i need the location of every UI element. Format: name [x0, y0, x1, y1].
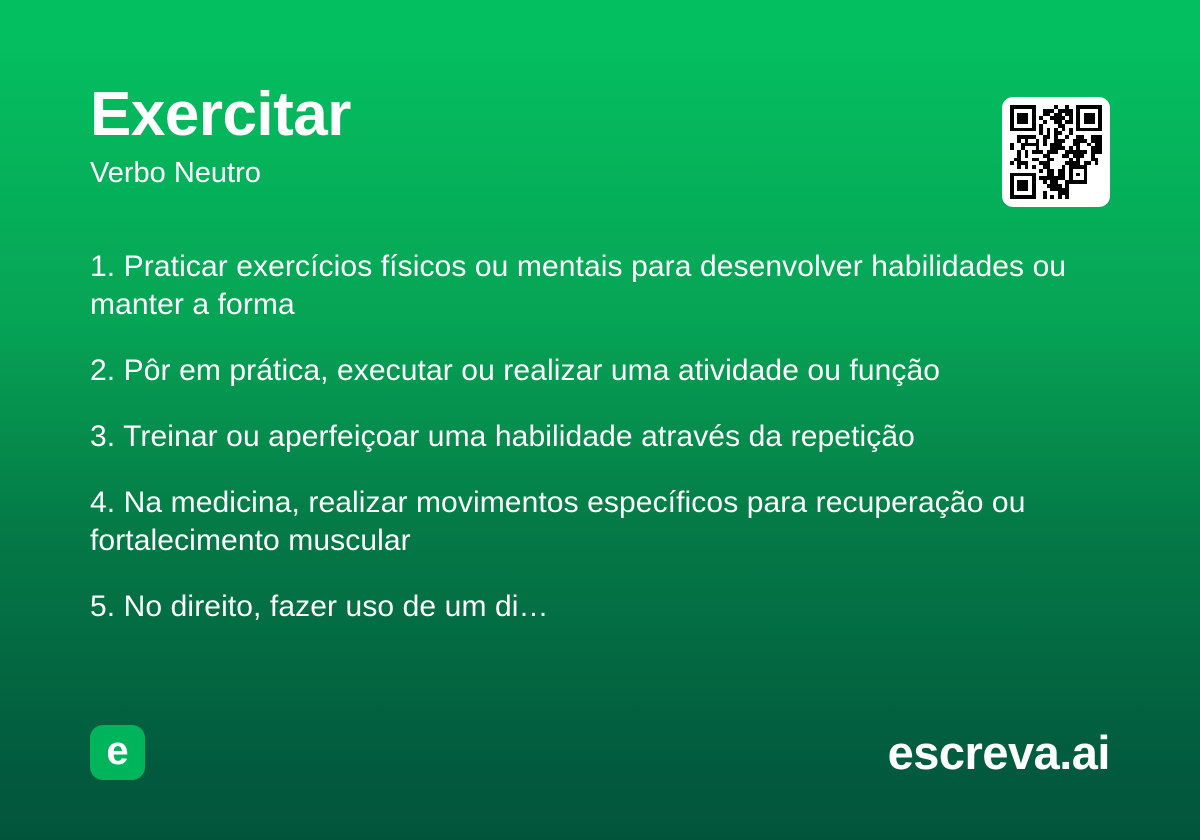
escreva-logo-mark[interactable]: e [90, 725, 145, 780]
definition-item: 1. Praticar exercícios físicos ou mentai… [90, 248, 1100, 324]
definition-item: 3. Treinar ou aperfeiçoar uma habilidade… [90, 418, 1100, 456]
qr-code-panel[interactable] [1002, 97, 1110, 207]
qr-code-icon [1010, 105, 1102, 199]
definition-item: 5. No direito, fazer uso de um di… [90, 588, 1100, 626]
card-header: Exercitar Verbo Neutro [90, 82, 1110, 191]
definition-item: 4. Na medicina, realizar movimentos espe… [90, 484, 1100, 560]
logo-letter: e [106, 731, 128, 771]
definition-list: 1. Praticar exercícios físicos ou mentai… [90, 248, 1100, 626]
dictionary-card: Exercitar Verbo Neutro 1. Praticar exerc… [0, 0, 1200, 840]
page-title: Exercitar [90, 82, 1110, 148]
card-footer: e escreva.ai [90, 724, 1110, 780]
brand-wordmark: escreva.ai [888, 729, 1110, 776]
word-class-subtitle: Verbo Neutro [90, 156, 1110, 191]
definition-item: 2. Pôr em prática, executar ou realizar … [90, 352, 1100, 390]
